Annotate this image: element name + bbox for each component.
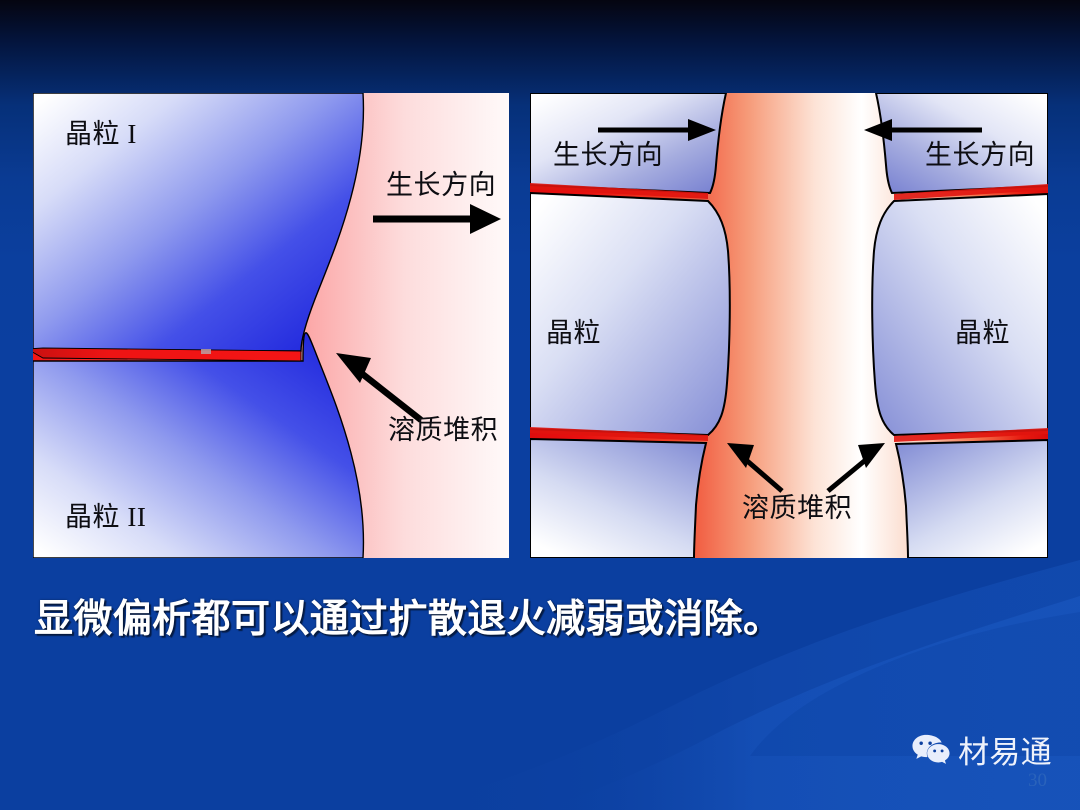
label-grain-left: 晶粒	[546, 311, 601, 350]
seam-marker	[201, 349, 211, 354]
label-growth-direction-right: 生长方向	[925, 133, 1035, 172]
grain-bottom-right-shape	[896, 440, 1048, 558]
footer-logo: 材易通	[911, 727, 1052, 772]
diagram-left-panel: 晶粒 I 晶粒 II 生长方向 溶质堆积	[33, 93, 509, 558]
label-grain-one: 晶粒 I	[65, 112, 137, 151]
slide-caption: 显微偏析都可以通过扩散退火减弱或消除。	[34, 588, 782, 644]
label-growth-direction: 生长方向	[386, 163, 496, 202]
label-solute-accumulation: 溶质堆积	[388, 408, 498, 447]
label-grain-right: 晶粒	[955, 311, 1010, 350]
wechat-icon	[911, 733, 951, 767]
diagram-right-panel: 生长方向 生长方向 晶粒 晶粒 溶质堆积	[530, 93, 1048, 558]
grain-bottom-left-shape	[530, 439, 706, 558]
page-number: 30	[1028, 770, 1047, 792]
logo-text: 材易通	[958, 727, 1052, 772]
label-solute-accumulation-right: 溶质堆积	[742, 486, 852, 525]
slide: 晶粒 I 晶粒 II 生长方向 溶质堆积	[0, 0, 1080, 810]
label-grain-two: 晶粒 II	[65, 495, 146, 534]
label-growth-direction-left: 生长方向	[553, 133, 663, 172]
